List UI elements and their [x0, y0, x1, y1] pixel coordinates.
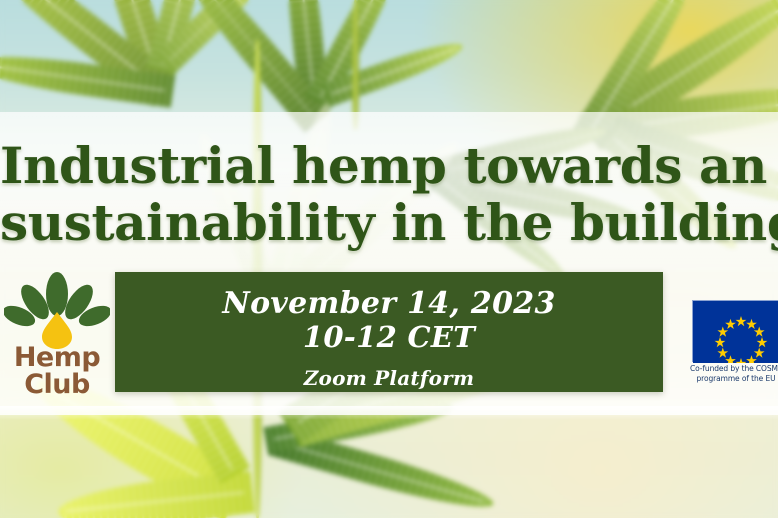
event-date: November 14, 2023: [222, 286, 555, 321]
event-platform: Zoom Platform: [304, 366, 474, 390]
eu-caption-line-1: Co-funded by the COSME: [690, 364, 778, 373]
hemp-club-wordmark: Hemp Club: [4, 344, 110, 398]
hemp-club-word-club: Club: [4, 371, 110, 398]
eu-cofunding-caption: Co-funded by the COSME programme of the …: [690, 364, 778, 384]
eu-caption-line-2: programme of the EU: [690, 374, 778, 384]
eu-flag-icon: [692, 300, 778, 362]
event-details-panel: November 14, 2023 10-12 CET Zoom Platfor…: [115, 272, 663, 392]
plant-stem-upper: [352, 0, 359, 130]
event-time: 10-12 CET: [303, 321, 475, 354]
background-photo: [0, 0, 778, 518]
eu-cofunding-logo: Co-funded by the COSME programme of the …: [690, 298, 778, 396]
hemp-club-logo: Hemp Club: [4, 272, 110, 400]
event-banner: Industrial hemp towards an increased sus…: [0, 0, 778, 518]
hemp-leaf-droplet-icon: [4, 272, 110, 350]
